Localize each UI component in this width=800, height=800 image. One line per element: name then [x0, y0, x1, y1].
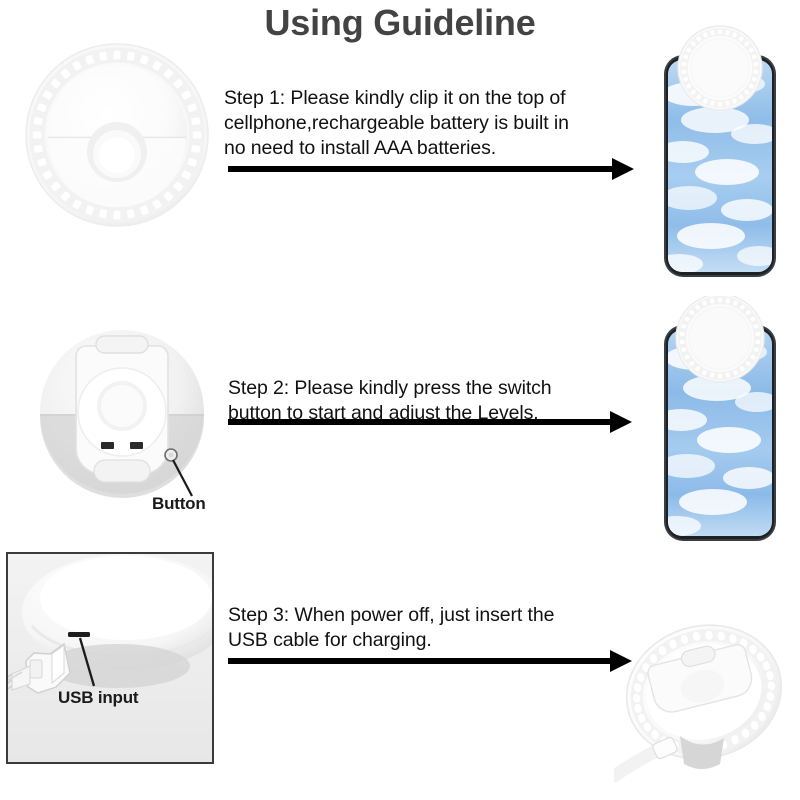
led-bead	[718, 30, 722, 35]
led-bead	[33, 132, 42, 139]
phone-1-svg	[655, 24, 785, 288]
step-3-arrow	[228, 650, 632, 672]
arrow-head-icon	[612, 158, 634, 180]
led-bead	[680, 332, 685, 337]
led-bead	[114, 51, 121, 60]
usb-photo-svg	[8, 554, 212, 762]
led-bead	[755, 332, 760, 337]
phone-2-svg	[655, 296, 785, 548]
led-bead	[33, 145, 43, 153]
ring-light-charging-image	[614, 608, 800, 794]
led-bead	[127, 209, 135, 219]
led-bead	[33, 117, 43, 125]
led-bead	[718, 374, 722, 379]
led-bead	[99, 51, 107, 61]
phone-with-ring-light-on-image	[655, 296, 785, 548]
arrow-shaft	[228, 166, 616, 172]
ring-light-front-svg	[24, 42, 210, 228]
led-bead	[718, 298, 722, 303]
ring-light-back-image	[22, 312, 222, 512]
ring-light-back-svg	[22, 312, 222, 512]
phone-with-ring-light-image	[655, 24, 785, 288]
led-bead	[755, 340, 760, 345]
led-bead	[682, 70, 687, 75]
led-bead	[753, 70, 758, 75]
clipped-ring-light	[678, 26, 762, 110]
arrow-shaft	[228, 658, 614, 664]
clipped-ring-light-lit	[676, 296, 764, 382]
led-bead	[191, 117, 201, 125]
led-bead	[718, 102, 722, 107]
led-bead	[193, 132, 202, 139]
button-callout-label: Button	[152, 494, 206, 514]
step-1-text: Step 1: Please kindly clip it on the top…	[224, 86, 624, 161]
contact-left	[101, 442, 114, 449]
contact-right	[130, 442, 143, 449]
led-bead	[753, 62, 758, 67]
arrow-head-icon	[610, 411, 632, 433]
clip-lower-pad	[94, 460, 150, 482]
clip-top-slot	[96, 336, 148, 353]
ring-light-usb-port-photo	[6, 552, 214, 764]
step-3-text: Step 3: When power off, just insert the …	[228, 603, 628, 653]
led-bead	[680, 340, 685, 345]
led-bead	[191, 145, 201, 153]
led-bead	[127, 51, 135, 61]
led-bead	[99, 209, 107, 219]
led-bead	[682, 62, 687, 67]
guideline-page: Using Guideline	[0, 0, 800, 800]
ring-charging-svg	[614, 608, 800, 794]
step-2-arrow	[228, 411, 632, 433]
led-bead	[114, 211, 121, 220]
usb-port-slot	[68, 632, 90, 637]
usb-input-callout-label: USB input	[58, 688, 138, 708]
ring-light-front-image	[24, 42, 210, 228]
step-1-arrow	[228, 158, 634, 180]
arrow-shaft	[228, 419, 614, 425]
